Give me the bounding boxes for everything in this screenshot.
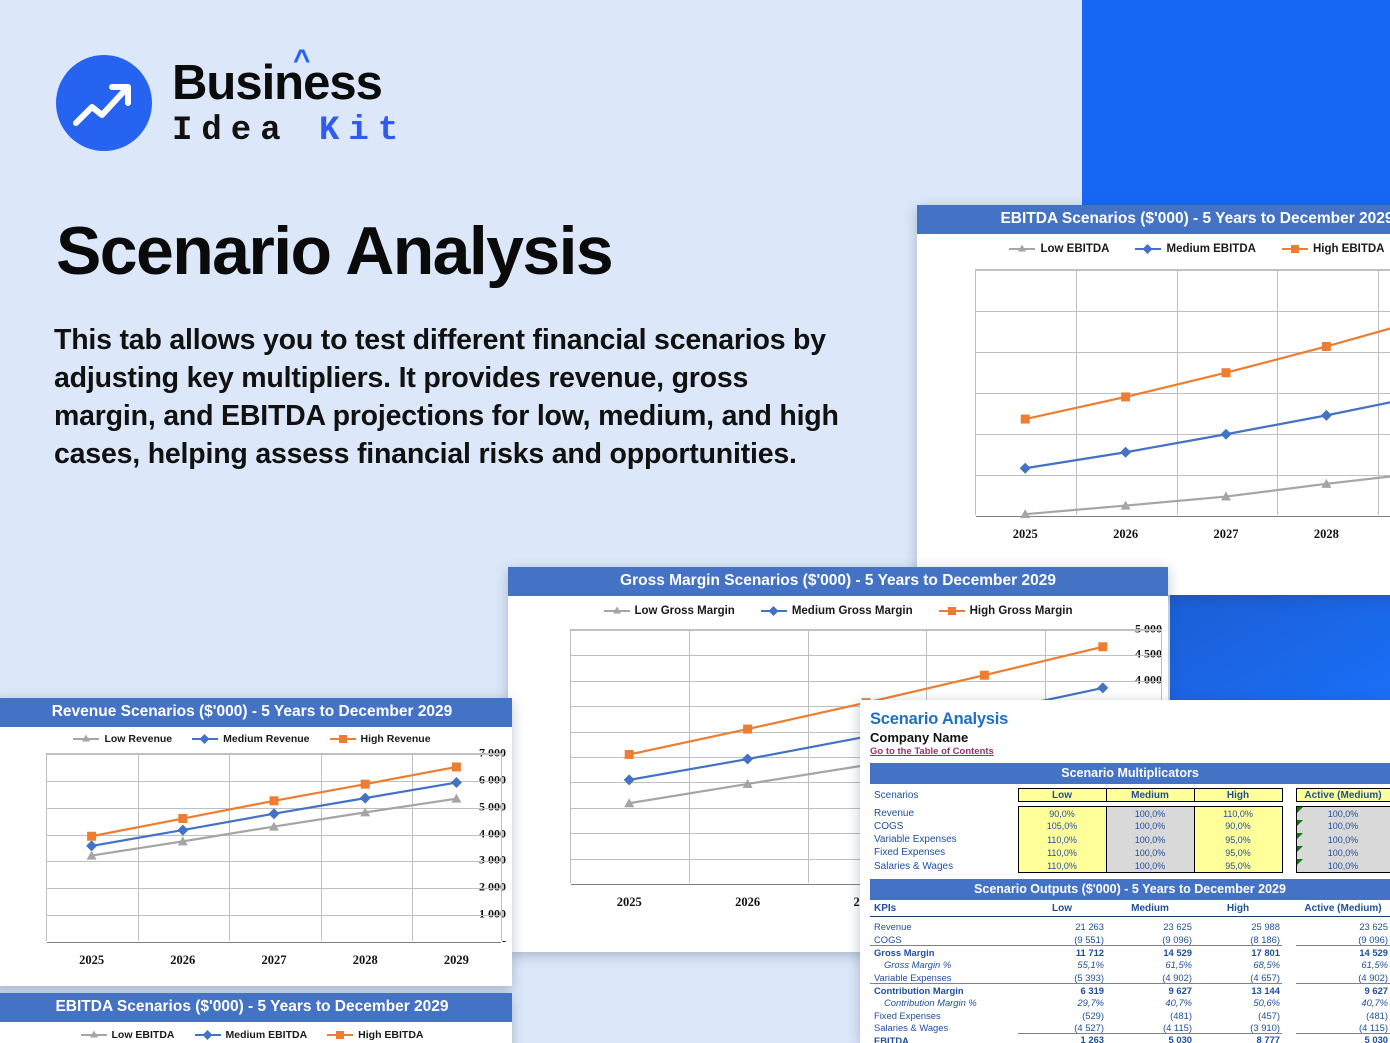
chart-card-revenue: Revenue Scenarios ($'000) - 5 Years to D… bbox=[0, 698, 512, 986]
output-kpi-label: Revenue bbox=[870, 921, 1018, 934]
output-medium-value: 5 030 bbox=[1106, 1034, 1194, 1043]
scenario-outputs-band: Scenario Outputs ($'000) - 5 Years to De… bbox=[870, 879, 1390, 900]
x-axis-tick-label: 2026 bbox=[1113, 527, 1138, 542]
chart-series-layer bbox=[0, 747, 512, 979]
multiplicator-low-cell[interactable]: 105,0% bbox=[1018, 820, 1106, 833]
output-high-value: (4 657) bbox=[1194, 971, 1282, 984]
output-low-value: 6 319 bbox=[1018, 984, 1106, 997]
table-row: Contribution Margin % 29,7% 40,7% 50,6% … bbox=[870, 996, 1390, 1009]
output-active-value: (4 902) bbox=[1296, 971, 1390, 984]
legend-label-high: High EBITDA bbox=[358, 1029, 423, 1041]
legend-marker-low-icon bbox=[81, 1034, 107, 1036]
output-high-value: 50,6% bbox=[1194, 996, 1282, 1009]
x-axis-tick-label: 2029 bbox=[444, 953, 469, 968]
chart-plot-ebitda-top: -5001 0001 5002 0002 5003 00020252026202… bbox=[917, 259, 1390, 559]
output-active-value: 61,5% bbox=[1296, 958, 1390, 971]
multiplicator-high-cell[interactable]: 95,0% bbox=[1194, 859, 1282, 872]
decorative-blue-block-middle-right bbox=[1170, 589, 1390, 700]
multiplicator-medium-cell[interactable]: 100,0% bbox=[1106, 859, 1194, 872]
scenario-multiplicators-band: Scenario Multiplicators bbox=[870, 763, 1390, 784]
page-title: Scenario Analysis bbox=[56, 212, 612, 290]
output-active-value: 23 625 bbox=[1296, 921, 1390, 934]
table-row: EBITDA 1 263 5 030 8 777 5 030 bbox=[870, 1034, 1390, 1043]
outputs-kpi-header: KPIs bbox=[870, 903, 1018, 917]
table-row: Fixed Expenses 110,0% 100,0% 95,0% 100,0… bbox=[870, 846, 1390, 859]
output-medium-value: 9 627 bbox=[1106, 984, 1194, 997]
legend-marker-low-icon bbox=[1009, 248, 1035, 250]
output-high-value: 13 144 bbox=[1194, 984, 1282, 997]
legend-item-high-revenue: High Revenue bbox=[330, 733, 431, 745]
legend-marker-high-icon bbox=[1282, 248, 1308, 250]
multiplicators-active-column-header: Active (Medium) bbox=[1296, 789, 1390, 802]
legend-label-low: Low Revenue bbox=[104, 733, 172, 745]
multiplicator-active-cell: 100,0% bbox=[1296, 820, 1390, 833]
output-medium-value: (4 902) bbox=[1106, 971, 1194, 984]
legend-label-high: High EBITDA bbox=[1313, 243, 1385, 255]
output-low-value: (9 551) bbox=[1018, 933, 1106, 946]
legend-marker-high-icon bbox=[330, 738, 356, 740]
legend-item-low-gross-margin: Low Gross Margin bbox=[604, 605, 735, 617]
output-kpi-label: Salaries & Wages bbox=[870, 1021, 1018, 1034]
output-kpi-label: Gross Margin bbox=[870, 946, 1018, 959]
legend-item-medium-revenue: Medium Revenue bbox=[192, 733, 309, 745]
output-active-value: 40,7% bbox=[1296, 996, 1390, 1009]
x-axis-tick-label: 2026 bbox=[170, 953, 195, 968]
chart-legend-revenue: Low Revenue Medium Revenue High Revenue bbox=[0, 727, 512, 747]
table-of-contents-link[interactable]: Go to the Table of Contents bbox=[870, 746, 994, 757]
legend-label-medium: Medium Revenue bbox=[223, 733, 309, 745]
output-high-value: 25 988 bbox=[1194, 921, 1282, 934]
output-low-value: 55,1% bbox=[1018, 958, 1106, 971]
output-active-value: (9 096) bbox=[1296, 933, 1390, 946]
output-high-value: (3 910) bbox=[1194, 1021, 1282, 1034]
brand-name-primary-text: Business bbox=[172, 56, 382, 110]
multiplicator-label: Variable Expenses bbox=[870, 833, 1018, 846]
chart-card-ebitda-bottom: EBITDA Scenarios ($'000) - 5 Years to De… bbox=[0, 993, 512, 1043]
sheet-company-name: Company Name bbox=[870, 730, 1390, 745]
table-row: COGS (9 551) (9 096) (8 186) (9 096) bbox=[870, 933, 1390, 946]
outputs-low-header: Low bbox=[1018, 903, 1106, 917]
multiplicator-low-cell[interactable]: 110,0% bbox=[1018, 833, 1106, 846]
output-medium-value: 23 625 bbox=[1106, 921, 1194, 934]
decorative-blue-block-top-right bbox=[1082, 0, 1390, 206]
legend-label-low: Low EBITDA bbox=[1040, 243, 1109, 255]
legend-marker-low-icon bbox=[73, 738, 99, 740]
multiplicators-column-header: Medium bbox=[1106, 789, 1194, 802]
legend-item-high-ebitda: High EBITDA bbox=[327, 1029, 423, 1041]
output-kpi-label: Contribution Margin % bbox=[870, 996, 1018, 1009]
legend-marker-high-icon bbox=[327, 1034, 353, 1036]
legend-item-low-ebitda: Low EBITDA bbox=[81, 1029, 175, 1041]
legend-label-medium: Medium EBITDA bbox=[226, 1029, 308, 1041]
multiplicator-medium-cell[interactable]: 100,0% bbox=[1106, 833, 1194, 846]
legend-label-high: High Gross Margin bbox=[970, 605, 1073, 617]
page-description: This tab allows you to test different fi… bbox=[54, 322, 854, 474]
table-row: Salaries & Wages (4 527) (4 115) (3 910)… bbox=[870, 1021, 1390, 1034]
output-low-value: (529) bbox=[1018, 1009, 1106, 1022]
multiplicator-label: Fixed Expenses bbox=[870, 846, 1018, 859]
legend-item-low-revenue: Low Revenue bbox=[73, 733, 172, 745]
table-row: Variable Expenses (5 393) (4 902) (4 657… bbox=[870, 971, 1390, 984]
x-axis-tick-label: 2025 bbox=[1013, 527, 1038, 542]
outputs-medium-header: Medium bbox=[1106, 903, 1194, 917]
x-axis-tick-label: 2027 bbox=[262, 953, 287, 968]
x-axis-tick-label: 2026 bbox=[735, 895, 760, 910]
legend-label-low: Low Gross Margin bbox=[635, 605, 735, 617]
cell-comment-flag-icon bbox=[1297, 846, 1303, 852]
output-active-value: 9 627 bbox=[1296, 984, 1390, 997]
legend-label-medium: Medium EBITDA bbox=[1166, 243, 1255, 255]
multiplicator-high-cell[interactable]: 110,0% bbox=[1194, 807, 1282, 820]
outputs-active-header: Active (Medium) bbox=[1296, 903, 1390, 917]
legend-marker-high-icon bbox=[939, 610, 965, 612]
output-kpi-label: Contribution Margin bbox=[870, 984, 1018, 997]
chart-legend-ebitda-bottom: Low EBITDA Medium EBITDA High EBITDA bbox=[0, 1022, 512, 1043]
output-medium-value: 40,7% bbox=[1106, 996, 1194, 1009]
x-axis-tick-label: 2027 bbox=[1214, 527, 1239, 542]
multiplicator-high-cell[interactable]: 90,0% bbox=[1194, 820, 1282, 833]
chart-title-revenue: Revenue Scenarios ($'000) - 5 Years to D… bbox=[0, 698, 512, 727]
scenario-analysis-sheet: Scenario Analysis Company Name Go to the… bbox=[860, 700, 1390, 1043]
multiplicator-active-cell: 100,0% bbox=[1296, 859, 1390, 872]
legend-label-medium: Medium Gross Margin bbox=[792, 605, 913, 617]
table-row: Fixed Expenses (529) (481) (457) (481) bbox=[870, 1009, 1390, 1022]
legend-marker-medium-icon bbox=[761, 610, 787, 612]
x-axis-tick-label: 2028 bbox=[353, 953, 378, 968]
output-medium-value: (9 096) bbox=[1106, 933, 1194, 946]
cell-comment-flag-icon bbox=[1297, 820, 1303, 826]
multiplicator-low-cell[interactable]: 110,0% bbox=[1018, 846, 1106, 859]
multiplicator-medium-cell[interactable]: 100,0% bbox=[1106, 820, 1194, 833]
output-active-value: (4 115) bbox=[1296, 1021, 1390, 1034]
cell-comment-flag-icon bbox=[1297, 859, 1303, 865]
multiplicators-row-header: Scenarios bbox=[870, 789, 1018, 802]
multiplicator-label: Revenue bbox=[870, 807, 1018, 820]
output-active-value: (481) bbox=[1296, 1009, 1390, 1022]
outputs-high-header: High bbox=[1194, 903, 1282, 917]
output-kpi-label: Variable Expenses bbox=[870, 971, 1018, 984]
legend-item-medium-gross-margin: Medium Gross Margin bbox=[761, 605, 913, 617]
output-kpi-label: COGS bbox=[870, 933, 1018, 946]
legend-marker-medium-icon bbox=[192, 738, 218, 740]
brand-caret-icon: ^ bbox=[293, 46, 310, 76]
legend-marker-medium-icon bbox=[195, 1034, 221, 1036]
table-row: Variable Expenses 110,0% 100,0% 95,0% 10… bbox=[870, 833, 1390, 846]
output-high-value: (457) bbox=[1194, 1009, 1282, 1022]
output-low-value: 29,7% bbox=[1018, 996, 1106, 1009]
table-row: Gross Margin % 55,1% 61,5% 68,5% 61,5% bbox=[870, 958, 1390, 971]
trending-up-arrow-icon bbox=[56, 55, 152, 151]
legend-label-low: Low EBITDA bbox=[112, 1029, 175, 1041]
scenario-outputs-table: KPIs Low Medium High Active (Medium) Rev… bbox=[870, 903, 1390, 1043]
brand-logo: Business ^ Idea Kit bbox=[56, 55, 407, 151]
output-medium-value: 14 529 bbox=[1106, 946, 1194, 959]
output-low-value: 21 263 bbox=[1018, 921, 1106, 934]
x-axis-tick-label: 2025 bbox=[79, 953, 104, 968]
x-axis-tick-label: 2028 bbox=[1314, 527, 1339, 542]
x-axis-tick-label: 2025 bbox=[617, 895, 642, 910]
legend-item-high-gross-margin: High Gross Margin bbox=[939, 605, 1073, 617]
multiplicator-medium-cell[interactable]: 100,0% bbox=[1106, 846, 1194, 859]
table-header-row: ScenariosLowMediumHigh Active (Medium) bbox=[870, 789, 1390, 802]
output-medium-value: 61,5% bbox=[1106, 958, 1194, 971]
table-row: COGS 105,0% 100,0% 90,0% 100,0% bbox=[870, 820, 1390, 833]
sheet-title: Scenario Analysis bbox=[870, 710, 1390, 729]
output-active-value: 5 030 bbox=[1296, 1034, 1390, 1043]
legend-item-low-ebitda: Low EBITDA bbox=[1009, 243, 1109, 255]
multiplicator-active-cell: 100,0% bbox=[1296, 833, 1390, 846]
chart-card-ebitda-top: EBITDA Scenarios ($'000) - 5 Years to De… bbox=[917, 205, 1390, 595]
multiplicator-high-cell[interactable]: 95,0% bbox=[1194, 846, 1282, 859]
table-row: Contribution Margin 6 319 9 627 13 144 9… bbox=[870, 984, 1390, 997]
brand-name-secondary-accent: Kit bbox=[319, 112, 407, 150]
output-kpi-label: Fixed Expenses bbox=[870, 1009, 1018, 1022]
multiplicator-label: COGS bbox=[870, 820, 1018, 833]
output-low-value: 1 263 bbox=[1018, 1034, 1106, 1043]
chart-plot-revenue: -1 0002 0003 0004 0005 0006 0007 0002025… bbox=[0, 747, 512, 979]
output-high-value: 17 801 bbox=[1194, 946, 1282, 959]
chart-series-layer bbox=[917, 259, 1390, 559]
legend-item-medium-ebitda: Medium EBITDA bbox=[195, 1029, 308, 1041]
legend-label-high: High Revenue bbox=[361, 733, 431, 745]
multiplicator-label: Salaries & Wages bbox=[870, 859, 1018, 872]
output-kpi-label: Gross Margin % bbox=[870, 958, 1018, 971]
chart-title-ebitda-bottom: EBITDA Scenarios ($'000) - 5 Years to De… bbox=[0, 993, 512, 1022]
scenario-multiplicators-table: ScenariosLowMediumHigh Active (Medium) R… bbox=[870, 788, 1390, 873]
output-high-value: 8 777 bbox=[1194, 1034, 1282, 1043]
brand-name-secondary: Idea Kit bbox=[172, 114, 407, 148]
table-row: Salaries & Wages 110,0% 100,0% 95,0% 100… bbox=[870, 859, 1390, 872]
cell-comment-flag-icon bbox=[1297, 833, 1303, 839]
legend-marker-low-icon bbox=[604, 610, 630, 612]
multiplicators-column-header: High bbox=[1194, 789, 1282, 802]
chart-legend-ebitda-top: Low EBITDA Medium EBITDA High EBITDA bbox=[917, 234, 1390, 259]
output-kpi-label: EBITDA bbox=[870, 1034, 1018, 1043]
cell-comment-flag-icon bbox=[1297, 807, 1303, 813]
chart-title-ebitda-top: EBITDA Scenarios ($'000) - 5 Years to De… bbox=[917, 205, 1390, 234]
table-row: Revenue 90,0% 100,0% 110,0% 100,0% bbox=[870, 807, 1390, 820]
output-medium-value: (4 115) bbox=[1106, 1021, 1194, 1034]
table-row: Gross Margin 11 712 14 529 17 801 14 529 bbox=[870, 946, 1390, 959]
multiplicators-column-header: Low bbox=[1018, 789, 1106, 802]
brand-name-primary: Business ^ bbox=[172, 59, 407, 108]
output-medium-value: (481) bbox=[1106, 1009, 1194, 1022]
multiplicator-high-cell[interactable]: 95,0% bbox=[1194, 833, 1282, 846]
output-high-value: (8 186) bbox=[1194, 933, 1282, 946]
output-low-value: (4 527) bbox=[1018, 1021, 1106, 1034]
multiplicator-low-cell[interactable]: 90,0% bbox=[1018, 807, 1106, 820]
multiplicator-active-cell: 100,0% bbox=[1296, 846, 1390, 859]
output-low-value: (5 393) bbox=[1018, 971, 1106, 984]
outputs-header-row: KPIs Low Medium High Active (Medium) bbox=[870, 903, 1390, 917]
brand-name-secondary-dark: Idea bbox=[172, 112, 319, 150]
output-low-value: 11 712 bbox=[1018, 946, 1106, 959]
chart-legend-gross-margin: Low Gross Margin Medium Gross Margin Hig… bbox=[508, 596, 1168, 621]
table-row: Revenue 21 263 23 625 25 988 23 625 bbox=[870, 921, 1390, 934]
multiplicator-medium-cell[interactable]: 100,0% bbox=[1106, 807, 1194, 820]
chart-title-gross-margin: Gross Margin Scenarios ($'000) - 5 Years… bbox=[508, 567, 1168, 596]
output-high-value: 68,5% bbox=[1194, 958, 1282, 971]
output-active-value: 14 529 bbox=[1296, 946, 1390, 959]
multiplicator-active-cell: 100,0% bbox=[1296, 807, 1390, 820]
legend-marker-medium-icon bbox=[1135, 248, 1161, 250]
legend-item-medium-ebitda: Medium EBITDA bbox=[1135, 243, 1255, 255]
legend-item-high-ebitda: High EBITDA bbox=[1282, 243, 1385, 255]
multiplicator-low-cell[interactable]: 110,0% bbox=[1018, 859, 1106, 872]
